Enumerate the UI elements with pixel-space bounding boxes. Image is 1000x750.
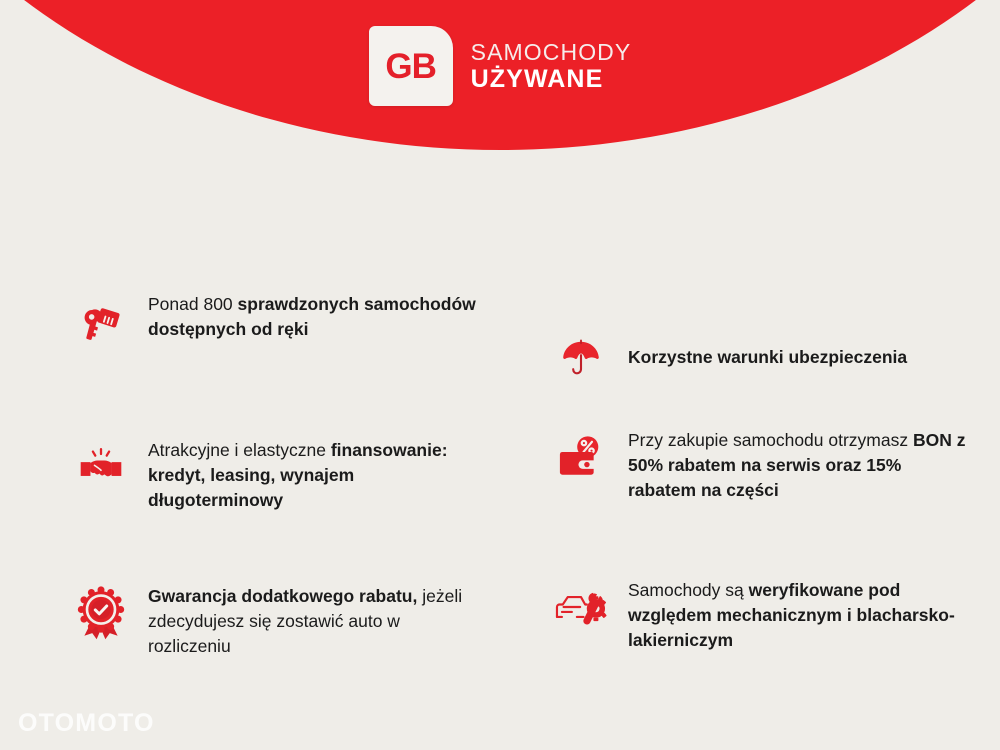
feature-text-rebate-guarantee: Gwarancja dodatkowego rabatu, jeżeli zde… — [148, 582, 478, 659]
gb-logo-mark: GB — [369, 26, 453, 106]
feature-lead: Samochody są — [628, 580, 749, 600]
otomoto-watermark: OTOMOTO — [18, 711, 155, 736]
feature-item-insurance: Korzystne warunki ubezpieczenia — [552, 276, 1000, 416]
feature-text-insurance: Korzystne warunki ubezpieczenia — [628, 343, 907, 370]
feature-strong: Gwarancja dodatkowego rabatu, — [148, 586, 417, 606]
feature-item-service-voucher: Przy zakupie samochodu otrzymasz BON z 5… — [552, 416, 1000, 544]
feature-lead: Ponad 800 — [148, 294, 238, 314]
feature-text-verification: Samochody są weryfikowane pod względem m… — [628, 576, 973, 653]
features-grid: Ponad 800 sprawdzonych samochodów dostęp… — [0, 276, 1000, 700]
handshake-icon — [72, 438, 130, 496]
feature-lead: Przy zakupie samochodu otrzymasz — [628, 430, 913, 450]
header-banner: GB SAMOCHODY UŻYWANE — [0, 0, 1000, 160]
brand-logo: GB SAMOCHODY UŻYWANE — [369, 26, 632, 106]
gb-logo-text: GB — [385, 49, 436, 84]
brand-line-samochody: SAMOCHODY — [471, 40, 632, 65]
car-wrench-icon — [552, 578, 610, 636]
otomoto-watermark-text: OTOMOTO — [18, 711, 155, 736]
feature-text-available-cars: Ponad 800 sprawdzonych samochodów dostęp… — [148, 290, 478, 342]
feature-item-available-cars: Ponad 800 sprawdzonych samochodów dostęp… — [72, 276, 532, 408]
key-tag-icon — [72, 292, 130, 350]
wallet-percent-icon — [552, 428, 610, 486]
feature-lead: Atrakcyjne i elastyczne — [148, 440, 331, 460]
feature-strong: Korzystne warunki ubezpieczenia — [628, 347, 907, 367]
feature-item-financing: Atrakcyjne i elastyczne finansowanie: kr… — [72, 416, 532, 554]
feature-item-verification: Samochody są weryfikowane pod względem m… — [552, 554, 1000, 694]
feature-text-service-voucher: Przy zakupie samochodu otrzymasz BON z 5… — [628, 426, 973, 503]
award-check-icon — [72, 584, 130, 642]
feature-item-rebate-guarantee: Gwarancja dodatkowego rabatu, jeżeli zde… — [72, 554, 532, 700]
feature-text-financing: Atrakcyjne i elastyczne finansowanie: kr… — [148, 436, 478, 513]
umbrella-icon — [552, 329, 610, 387]
brand-line-uzywane: UŻYWANE — [471, 65, 632, 94]
